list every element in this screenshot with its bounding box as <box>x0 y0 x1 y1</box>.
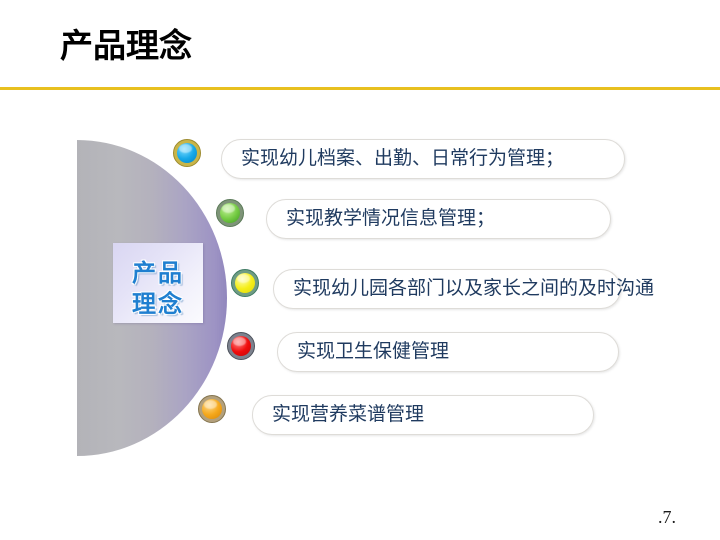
page-number: .7. <box>658 507 676 528</box>
bullet-row-4: 实现卫生保健管理 <box>227 332 627 374</box>
dot-gloss <box>222 204 235 213</box>
bullet-dot-yellow-icon <box>231 269 259 297</box>
title-divider-rule <box>0 87 720 90</box>
dot-gloss <box>233 337 246 346</box>
bullet-row-2: 实现教学情况信息管理； <box>216 199 636 241</box>
dot-gloss <box>204 400 217 409</box>
dot-gloss <box>179 144 192 153</box>
bullet-dot-orange-icon <box>198 395 226 423</box>
bullet-row-5: 实现营养菜谱管理 <box>198 395 598 437</box>
bullet-label-1: 实现幼儿档案、出勤、日常行为管理； <box>241 139 564 179</box>
bullet-row-1: 实现幼儿档案、出勤、日常行为管理； <box>173 139 633 181</box>
page-title: 产品理念 <box>60 24 192 68</box>
bullet-label-2: 实现教学情况信息管理； <box>286 199 495 239</box>
bullet-dot-red-icon <box>227 332 255 360</box>
center-concept-label: 产品 理念 <box>113 243 203 323</box>
bullet-label-3: 实现幼儿园各部门以及家长之间的及时沟通 <box>293 269 654 309</box>
center-label-line-1: 产品 <box>113 253 203 288</box>
bullet-dot-blue-icon <box>173 139 201 167</box>
bullet-label-5: 实现营养菜谱管理 <box>272 395 424 435</box>
slide-canvas: 产品理念 产品 理念 实现幼儿档案、出勤、日常行为管理； 实现教学情况信息管理； <box>0 0 720 540</box>
dot-gloss <box>237 274 250 283</box>
bullet-row-3: 实现幼儿园各部门以及家长之间的及时沟通 <box>231 269 681 311</box>
bullet-dot-green-icon <box>216 199 244 227</box>
bullet-label-4: 实现卫生保健管理 <box>297 332 449 372</box>
center-label-line-2: 理念 <box>113 284 203 319</box>
